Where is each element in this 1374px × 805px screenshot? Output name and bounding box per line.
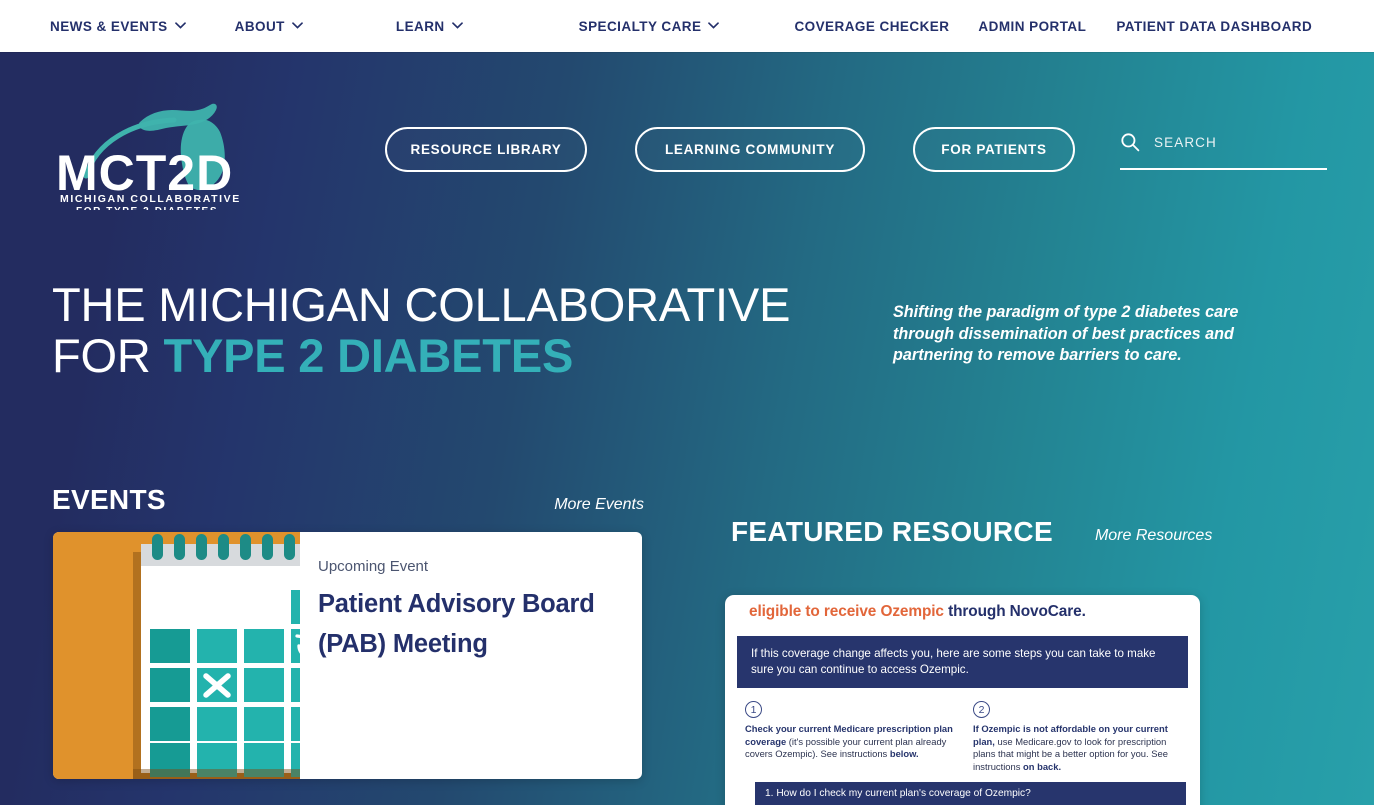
search-field[interactable]: SEARCH [1120, 128, 1327, 170]
calendar-illustration-icon [53, 532, 300, 779]
nav-item-label: SPECIALTY CARE [579, 19, 702, 34]
search-icon [1120, 132, 1140, 157]
chevron-down-icon [708, 20, 719, 31]
resource-step: 1 Check your current Medicare prescripti… [745, 701, 956, 773]
step-rest-text: use Medicare.gov to look for prescriptio… [973, 736, 1168, 772]
for-patients-button[interactable]: FOR PATIENTS [913, 127, 1075, 172]
nav-item-label: LEARN [396, 19, 445, 34]
site-logo[interactable]: MCT2D MICHIGAN COLLABORATIVE FOR TYPE 2 … [48, 80, 248, 210]
resource-preview-headline: prescription coverage will no longer be … [725, 595, 1200, 624]
nav-item-news-events[interactable]: NEWS & EVENTS [50, 19, 186, 34]
resource-step: 2 If Ozempic is not affordable on your c… [973, 701, 1184, 773]
hero-tagline: Shifting the paradigm of type 2 diabetes… [893, 302, 1273, 367]
resource-library-button[interactable]: RESOURCE LIBRARY [385, 127, 587, 172]
headline-line-1: THE MICHIGAN COLLABORATIVE [52, 278, 790, 331]
button-label: LEARNING COMMUNITY [665, 142, 835, 157]
svg-text:FOR TYPE 2 DIABETES: FOR TYPE 2 DIABETES [76, 206, 218, 210]
michigan-state-outline-icon: MCT2D MICHIGAN COLLABORATIVE FOR TYPE 2 … [48, 80, 248, 210]
headline-orange-text: eligible to receive Ozempic [749, 603, 944, 620]
nav-item-label: NEWS & EVENTS [50, 19, 168, 34]
featured-resource-card[interactable]: prescription coverage will no longer be … [725, 595, 1200, 805]
step-number-badge: 2 [973, 701, 990, 718]
step-emphasis-text: below. [890, 748, 919, 759]
top-utility-nav: NEWS & EVENTS ABOUT LEARN SPECIALTY CARE… [0, 0, 1374, 52]
events-title: EVENTS [52, 484, 166, 516]
resource-document-preview: prescription coverage will no longer be … [725, 595, 1200, 805]
button-label: RESOURCE LIBRARY [411, 142, 562, 157]
step-emphasis-text: on back. [1023, 761, 1061, 772]
chevron-down-icon [452, 20, 463, 31]
event-card[interactable]: Upcoming Event Patient Advisory Board (P… [53, 532, 642, 779]
svg-text:MICHIGAN COLLABORATIVE: MICHIGAN COLLABORATIVE [60, 193, 241, 205]
headline-line-2-accent: TYPE 2 DIABETES [163, 329, 573, 382]
event-title: Patient Advisory Board (PAB) Meeting [318, 584, 620, 664]
event-card-body: Upcoming Event Patient Advisory Board (P… [300, 532, 642, 779]
headline-line-2-prefix: FOR [52, 329, 163, 382]
nav-item-label: ABOUT [235, 19, 285, 34]
event-kicker: Upcoming Event [318, 558, 620, 575]
chevron-down-icon [292, 20, 303, 31]
event-thumbnail [53, 532, 300, 779]
hero-section: MCT2D MICHIGAN COLLABORATIVE FOR TYPE 2 … [0, 52, 1374, 805]
search-placeholder: SEARCH [1154, 135, 1217, 150]
resource-preview-steps: 1 Check your current Medicare prescripti… [725, 688, 1200, 773]
featured-resource-section-header: FEATURED RESOURCE More Resources [731, 516, 1212, 548]
nav-item-patient-data-dashboard[interactable]: PATIENT DATA DASHBOARD [1116, 19, 1312, 34]
events-section-header: EVENTS More Events [52, 484, 644, 516]
nav-item-learn[interactable]: LEARN [396, 19, 463, 34]
hero-headline: THE MICHIGAN COLLABORATIVE FOR TYPE 2 DI… [52, 280, 790, 381]
nav-item-label: ADMIN PORTAL [978, 19, 1086, 34]
resource-preview-banner: If this coverage change affects you, her… [737, 636, 1188, 688]
nav-item-label: PATIENT DATA DASHBOARD [1116, 19, 1312, 34]
more-events-link[interactable]: More Events [554, 496, 644, 514]
nav-item-coverage-checker[interactable]: COVERAGE CHECKER [794, 19, 949, 34]
nav-item-about[interactable]: ABOUT [235, 19, 303, 34]
nav-item-label: COVERAGE CHECKER [794, 19, 949, 34]
more-resources-link[interactable]: More Resources [1095, 527, 1212, 545]
featured-resource-title: FEATURED RESOURCE [731, 516, 1053, 548]
resource-preview-question: 1. How do I check my current plan's cove… [755, 782, 1186, 805]
step-number-badge: 1 [745, 701, 762, 718]
nav-item-specialty-care[interactable]: SPECIALTY CARE [579, 19, 720, 34]
headline-rest-text: through NovoCare. [944, 603, 1086, 620]
nav-item-admin-portal[interactable]: ADMIN PORTAL [978, 19, 1086, 34]
chevron-down-icon [175, 20, 186, 31]
button-label: FOR PATIENTS [941, 142, 1046, 157]
learning-community-button[interactable]: LEARNING COMMUNITY [635, 127, 865, 172]
